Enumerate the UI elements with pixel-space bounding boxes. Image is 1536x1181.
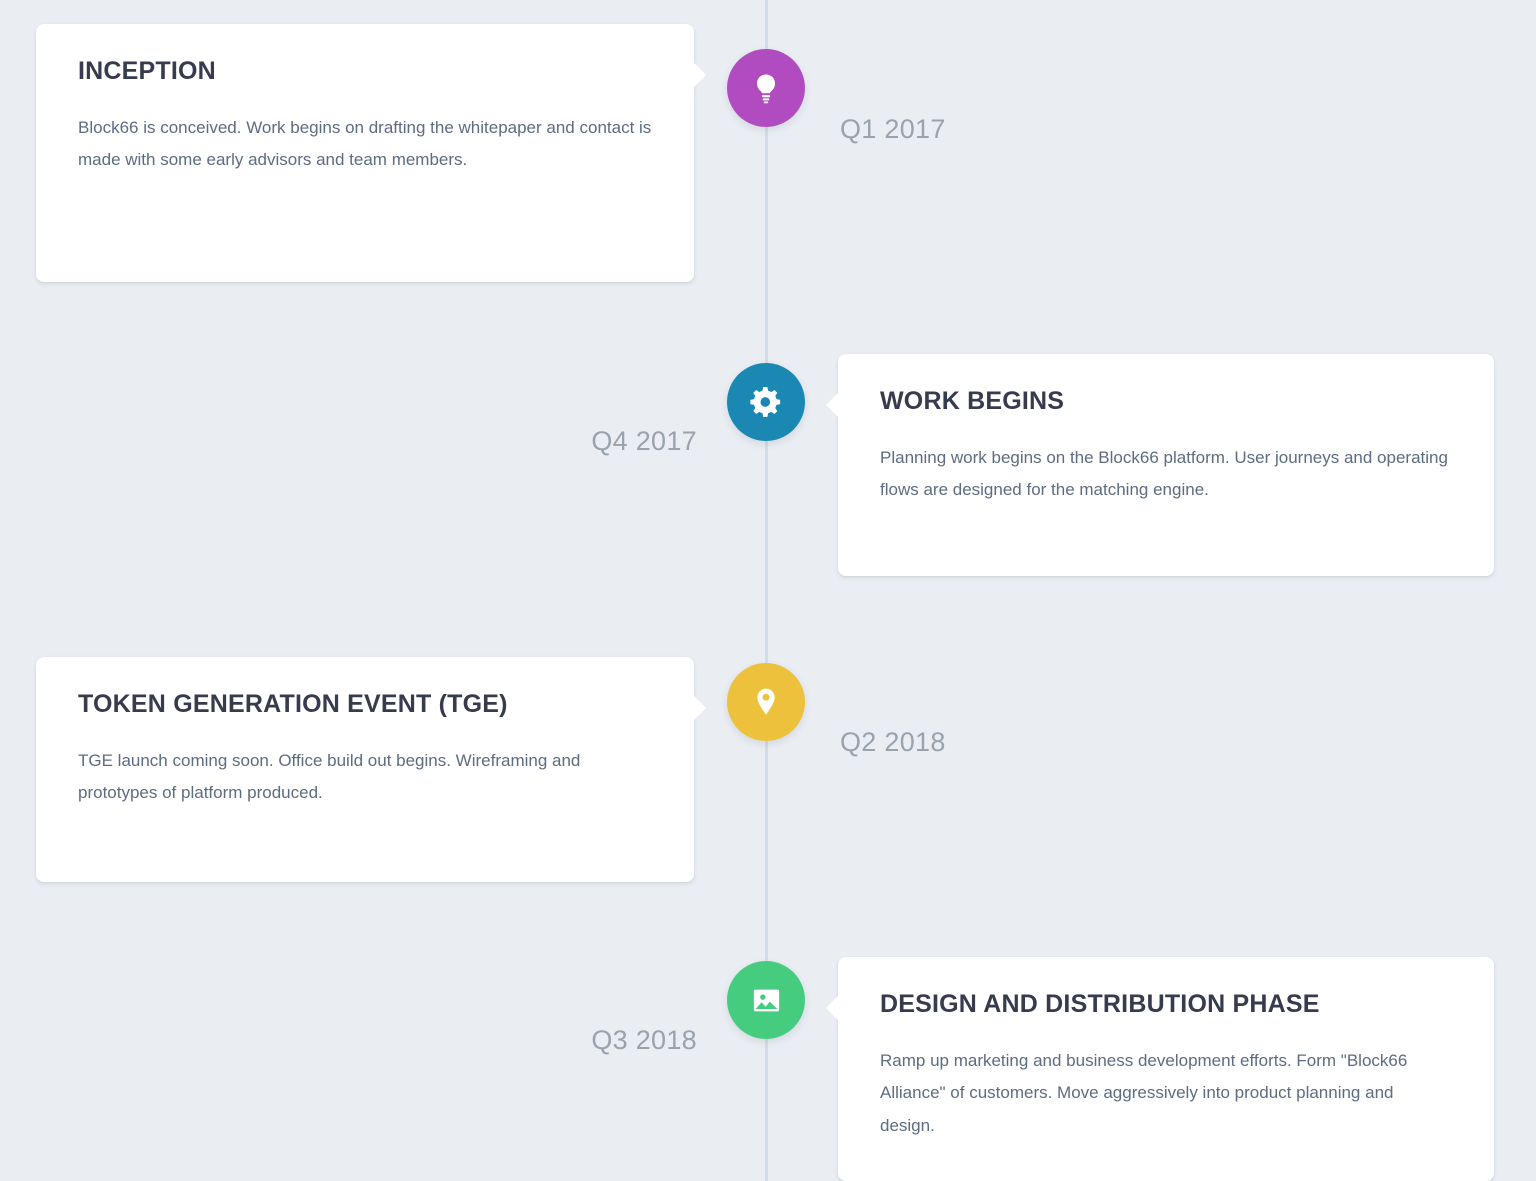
timeline-card-tge[interactable]: TOKEN GENERATION EVENT (TGE) TGE launch … (36, 657, 694, 882)
image-icon (751, 985, 782, 1016)
timeline-marker-inception[interactable] (727, 49, 805, 127)
timeline-marker-tge[interactable] (727, 663, 805, 741)
card-title: DESIGN AND DISTRIBUTION PHASE (880, 991, 1452, 1019)
card-body: TGE launch coming soon. Office build out… (78, 745, 652, 810)
gear-icon (749, 385, 783, 419)
card-pointer-icon (693, 62, 706, 88)
card-title: TOKEN GENERATION EVENT (TGE) (78, 691, 652, 719)
timeline-quarter-label: Q1 2017 (840, 114, 946, 145)
card-title: INCEPTION (78, 58, 652, 86)
timeline-quarter-label: Q2 2018 (840, 727, 946, 758)
timeline-row: DESIGN AND DISTRIBUTION PHASE Ramp up ma… (0, 957, 1536, 1181)
timeline-card-design-distribution[interactable]: DESIGN AND DISTRIBUTION PHASE Ramp up ma… (838, 957, 1494, 1181)
timeline-marker-work-begins[interactable] (727, 363, 805, 441)
card-body: Planning work begins on the Block66 plat… (880, 442, 1452, 507)
timeline-row: INCEPTION Block66 is conceived. Work beg… (0, 24, 1536, 282)
timeline-card-work-begins[interactable]: WORK BEGINS Planning work begins on the … (838, 354, 1494, 576)
card-body: Block66 is conceived. Work begins on dra… (78, 112, 652, 177)
card-title: WORK BEGINS (880, 388, 1452, 416)
timeline-quarter-label: Q4 2017 (400, 426, 697, 457)
timeline-marker-design-distribution[interactable] (727, 961, 805, 1039)
timeline-row: WORK BEGINS Planning work begins on the … (0, 354, 1536, 576)
card-pointer-icon (826, 995, 839, 1021)
timeline-card-inception[interactable]: INCEPTION Block66 is conceived. Work beg… (36, 24, 694, 282)
map-pin-icon (750, 686, 782, 718)
timeline-row: TOKEN GENERATION EVENT (TGE) TGE launch … (0, 657, 1536, 882)
lightbulb-icon (749, 71, 783, 105)
card-body: Ramp up marketing and business developme… (880, 1045, 1452, 1143)
card-pointer-icon (826, 392, 839, 418)
roadmap-timeline: INCEPTION Block66 is conceived. Work beg… (0, 0, 1536, 1181)
card-pointer-icon (693, 695, 706, 721)
timeline-quarter-label: Q3 2018 (400, 1025, 697, 1056)
